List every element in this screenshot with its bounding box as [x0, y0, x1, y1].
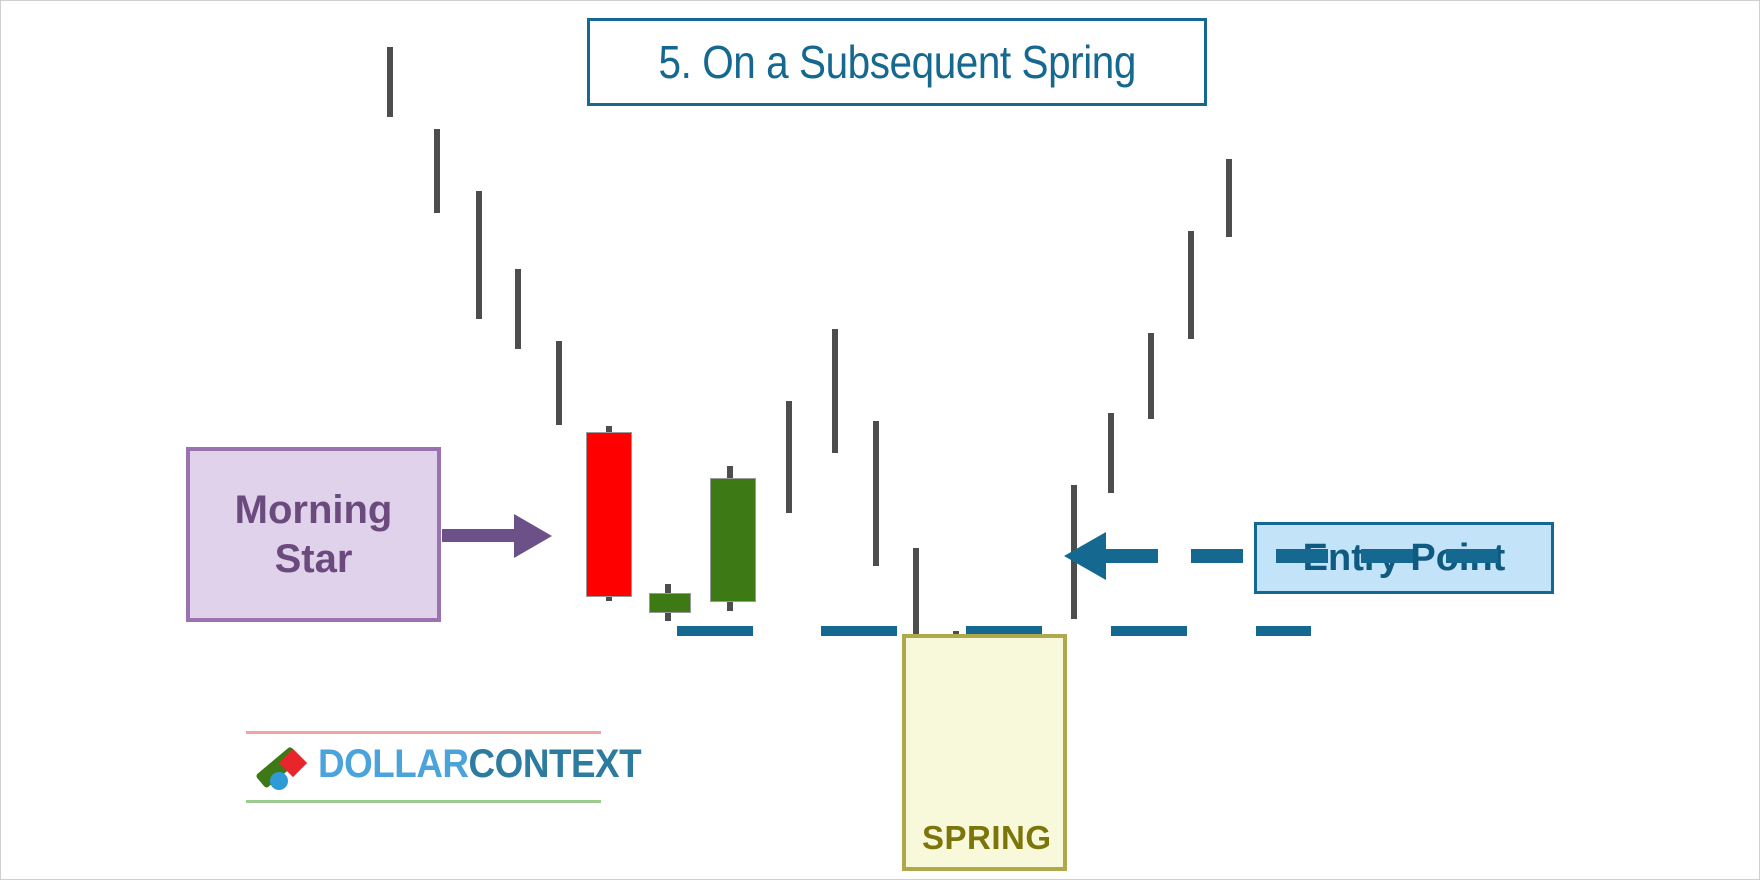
morning-star-arrow-head-icon — [514, 514, 552, 558]
candle-wick — [387, 47, 393, 117]
logo-word-context: CONTEXT — [469, 742, 642, 786]
candle-body — [710, 478, 756, 602]
candle-wick — [1148, 333, 1154, 419]
morning-star-callout: Morning Star — [186, 447, 441, 622]
entry-arrow-dash — [1361, 549, 1413, 563]
brand-logo: DOLLARCONTEXT — [246, 731, 601, 803]
candle-wick — [476, 191, 482, 319]
title-box: 5. On a Subsequent Spring — [587, 18, 1207, 106]
morning-star-label-line1: Morning — [235, 486, 393, 535]
entry-arrow-dash — [1276, 549, 1328, 563]
spring-label: SPRING — [922, 819, 1052, 857]
support-line-dash — [677, 626, 753, 636]
entry-arrow-dash — [1446, 549, 1498, 563]
entry-point-arrow-head-icon — [1064, 532, 1106, 580]
candle-body — [649, 593, 691, 613]
candle-wick — [434, 129, 440, 213]
candle-body — [586, 432, 632, 597]
support-line-dash — [821, 626, 897, 636]
candle-wick — [1188, 231, 1194, 339]
candle-wick — [515, 269, 521, 349]
morning-star-arrow-shaft — [442, 529, 518, 542]
support-line-dash — [1111, 626, 1187, 636]
candle-wick — [1108, 413, 1114, 493]
logo-mark-icon — [251, 745, 311, 791]
support-line-dash — [1256, 626, 1311, 636]
candle-wick — [786, 401, 792, 513]
candle-wick — [832, 329, 838, 453]
entry-arrow-dash — [1191, 549, 1243, 563]
entry-arrow-dash — [1106, 549, 1158, 563]
logo-rule-top — [246, 731, 601, 734]
candle-wick — [1226, 159, 1232, 237]
logo-rule-bottom — [246, 800, 601, 803]
logo-word-dollar: DOLLAR — [318, 742, 469, 786]
candle-wick — [873, 421, 879, 566]
spring-zone-box: SPRING — [902, 634, 1067, 871]
logo-wordmark: DOLLARCONTEXT — [318, 742, 641, 787]
page-title: 5. On a Subsequent Spring — [658, 35, 1135, 89]
morning-star-label-line2: Star — [275, 535, 353, 584]
chart-canvas: 5. On a Subsequent Spring SPRING Morning… — [0, 0, 1760, 880]
candle-wick — [556, 341, 562, 425]
